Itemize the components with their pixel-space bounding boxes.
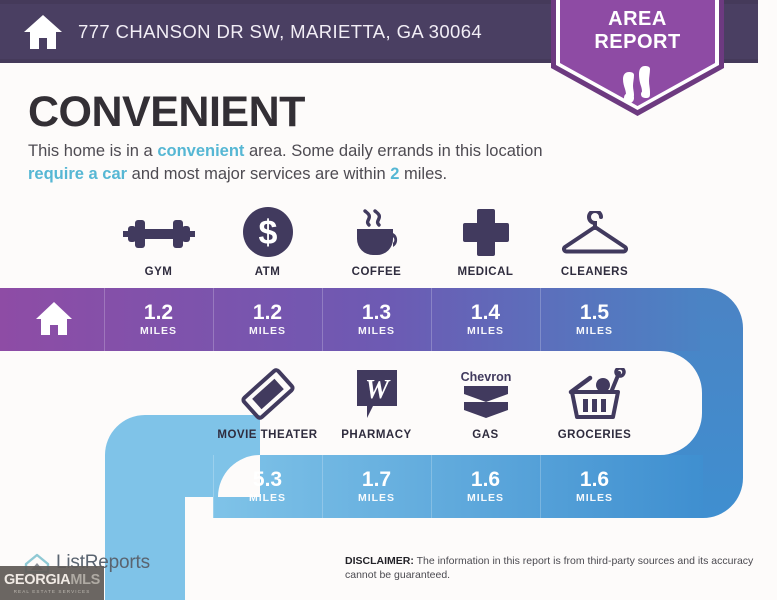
disclaimer-label: DISCLAIMER:	[345, 555, 414, 567]
amenity-gas: Chevron GAS	[431, 368, 540, 441]
chevron-logo-icon: Chevron	[456, 368, 516, 420]
svg-text:W: W	[364, 374, 390, 404]
amenity-label: GROCERIES	[558, 429, 632, 441]
subtitle-part2: area. Some daily errands in this locatio…	[244, 142, 542, 160]
subtitle-highlight-convenient: convenient	[157, 142, 244, 160]
home-icon	[22, 12, 64, 52]
amenity-label: CLEANERS	[561, 266, 628, 278]
hanger-icon	[562, 205, 628, 257]
subtitle-part3: and most major services are within	[127, 165, 390, 183]
georgia-mls-watermark: GEORGIAMLS REAL ESTATE SERVICES	[0, 566, 104, 600]
watermark-subtitle: REAL ESTATE SERVICES	[14, 589, 91, 594]
amenity-pharmacy: W PHARMACY	[322, 368, 431, 441]
amenity-coffee: COFFEE	[322, 205, 431, 278]
amenity-label: GAS	[472, 429, 498, 441]
grocery-basket-icon	[564, 368, 626, 420]
disclaimer: DISCLAIMER: The information in this repo…	[345, 554, 765, 582]
subtitle-part4: miles.	[399, 165, 447, 183]
amenity-movie-theater: MOVIE THEATER	[213, 368, 322, 441]
subtitle-part1: This home is in a	[28, 142, 157, 160]
amenity-medical: MEDICAL	[431, 205, 540, 278]
svg-text:Chevron: Chevron	[460, 370, 511, 384]
coffee-cup-icon	[349, 205, 405, 257]
watermark-georgia: GEORGIA	[4, 572, 70, 588]
amenity-cleaners: CLEANERS	[540, 205, 649, 278]
amenity-row-2: MOVIE THEATER W PHARMACY Chevron GAS	[213, 368, 649, 441]
watermark-mls: MLS	[70, 572, 100, 588]
svg-text:$: $	[258, 214, 277, 252]
medical-cross-icon	[462, 205, 510, 257]
amenity-label: MEDICAL	[458, 266, 514, 278]
page-title: CONVENIENT	[28, 88, 305, 137]
amenity-label: PHARMACY	[341, 429, 411, 441]
track-home-icon	[34, 300, 74, 338]
dumbbell-icon	[123, 205, 195, 257]
amenity-label: COFFEE	[352, 266, 402, 278]
area-report-badge: AREA REPORT	[545, 0, 730, 122]
amenity-row-1: GYM $ ATM COFFEE	[104, 205, 649, 278]
address-text: 777 CHANSON DR SW, MARIETTA, GA 30064	[78, 21, 482, 43]
area-report-infographic: 777 CHANSON DR SW, MARIETTA, GA 30064 AR…	[0, 0, 777, 600]
amenity-label: MOVIE THEATER	[217, 429, 317, 441]
subtitle-highlight-require-a-car: require a car	[28, 165, 127, 183]
ticket-icon	[240, 368, 296, 420]
dollar-coin-icon: $	[243, 205, 293, 257]
amenity-groceries: GROCERIES	[540, 368, 649, 441]
amenity-label: ATM	[255, 266, 281, 278]
walgreens-w-icon: W	[353, 368, 401, 420]
amenity-atm: $ ATM	[213, 205, 322, 278]
watermark-title: GEORGIAMLS	[4, 573, 100, 588]
amenity-gym: GYM	[104, 205, 213, 278]
subtitle-text: This home is in a convenient area. Some …	[28, 140, 548, 186]
amenity-label: GYM	[145, 266, 173, 278]
